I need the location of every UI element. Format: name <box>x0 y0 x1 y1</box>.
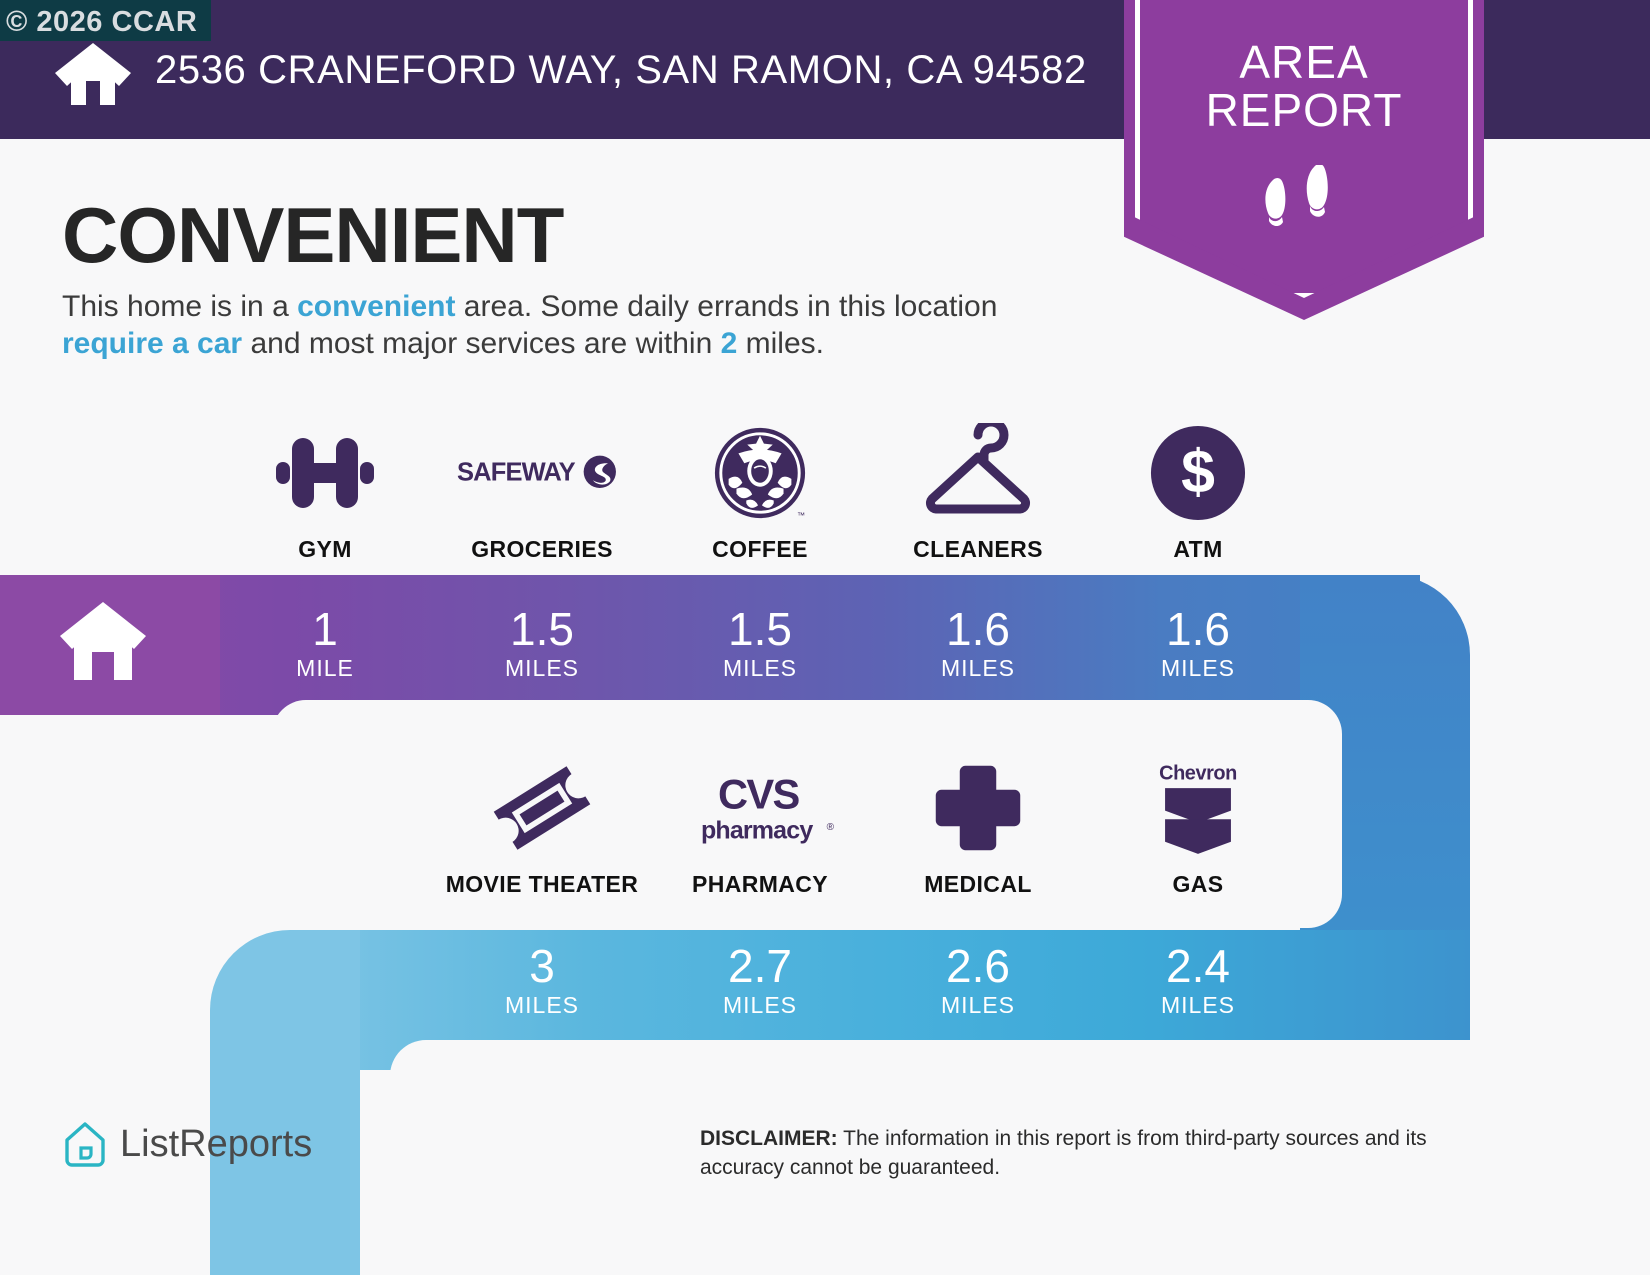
subtitle-highlight-3: 2 <box>721 327 738 360</box>
distance-unit: MILES <box>873 655 1083 682</box>
property-address: 2536 CRANEFORD WAY, SAN RAMON, CA 94582 <box>155 48 1087 93</box>
svg-text:SAFEWAY: SAFEWAY <box>457 458 576 486</box>
svg-text:™: ™ <box>797 511 805 520</box>
distance-cleaners: 1.6 MILES <box>873 605 1083 682</box>
distance-unit: MILES <box>1093 992 1303 1019</box>
distance-value: 3 <box>437 942 647 990</box>
listreports-house-icon <box>62 1120 108 1168</box>
distance-unit: MILES <box>1093 655 1303 682</box>
medical-cross-icon <box>873 755 1083 861</box>
distance-gym: 1 MILE <box>220 605 430 682</box>
subtitle-part-4: miles. <box>737 327 824 360</box>
svg-text:Chevron: Chevron <box>1159 762 1237 784</box>
home-icon <box>55 43 131 105</box>
distance-value: 2.6 <box>873 942 1083 990</box>
row2-icons: MOVIE THEATER CVS pharmacy ® PHARMACY ME… <box>0 755 1650 905</box>
subtitle-part-1: This home is in a <box>62 290 297 323</box>
distance-pharmacy: 2.7 MILES <box>655 942 865 1019</box>
category-label: PHARMACY <box>655 871 865 898</box>
dollar-circle-icon: $ <box>1093 420 1303 526</box>
disclaimer: DISCLAIMER: The information in this repo… <box>700 1124 1510 1182</box>
distance-unit: MILES <box>655 655 865 682</box>
subtitle-part-2: area. Some daily errands in this locatio… <box>455 290 997 323</box>
category-label: GAS <box>1093 871 1303 898</box>
home-marker-icon <box>60 600 146 680</box>
category-label: GROCERIES <box>437 536 647 563</box>
distance-value: 1.6 <box>873 605 1083 653</box>
svg-text:pharmacy: pharmacy <box>701 816 813 844</box>
footprints-icon <box>1262 165 1346 235</box>
category-label: COFFEE <box>655 536 865 563</box>
badge-line-1: AREA <box>1124 38 1484 86</box>
distance-value: 1.5 <box>437 605 647 653</box>
cvs-pharmacy-logo: CVS pharmacy ® <box>655 755 865 861</box>
category-medical: MEDICAL <box>873 755 1083 898</box>
dumbbell-icon <box>220 420 430 526</box>
safeway-logo: SAFEWAY <box>437 420 647 526</box>
disclaimer-label: DISCLAIMER: <box>700 1127 838 1150</box>
listreports-label: ListReports <box>120 1123 312 1166</box>
distance-value: 1 <box>220 605 430 653</box>
category-gas: Chevron GAS <box>1093 755 1303 898</box>
area-report-badge-label: AREA REPORT <box>1124 38 1484 134</box>
svg-text:CVS: CVS <box>718 770 800 817</box>
listreports-logo[interactable]: ListReports <box>62 1120 312 1168</box>
hanger-icon <box>873 420 1083 526</box>
page-title: CONVENIENT <box>62 190 563 281</box>
ticket-icon <box>437 755 647 861</box>
distance-value: 2.4 <box>1093 942 1303 990</box>
distance-groceries: 1.5 MILES <box>437 605 647 682</box>
category-label: MOVIE THEATER <box>437 871 647 898</box>
distance-gas: 2.4 MILES <box>1093 942 1303 1019</box>
category-label: GYM <box>220 536 430 563</box>
distance-unit: MILES <box>655 992 865 1019</box>
category-label: ATM <box>1093 536 1303 563</box>
distance-unit: MILE <box>220 655 430 682</box>
svg-text:®: ® <box>827 822 835 833</box>
page-subtitle: This home is in a convenient area. Some … <box>62 288 1062 362</box>
distance-medical: 2.6 MILES <box>873 942 1083 1019</box>
category-coffee: ™ COFFEE <box>655 420 865 563</box>
category-gym: GYM <box>220 420 430 563</box>
category-atm: $ ATM <box>1093 420 1303 563</box>
area-report-page: © 2026 CCAR 2536 CRANEFORD WAY, SAN RAMO… <box>0 0 1650 1275</box>
distance-coffee: 1.5 MILES <box>655 605 865 682</box>
distance-value: 1.6 <box>1093 605 1303 653</box>
badge-line-2: REPORT <box>1124 86 1484 134</box>
category-pharmacy: CVS pharmacy ® PHARMACY <box>655 755 865 898</box>
row1-icons: GYM SAFEWAY GROCERIES <box>0 420 1650 570</box>
starbucks-logo: ™ <box>655 420 865 526</box>
svg-text:$: $ <box>1181 438 1215 506</box>
category-movie-theater: MOVIE THEATER <box>437 755 647 898</box>
copyright-badge: © 2026 CCAR <box>0 0 211 41</box>
subtitle-part-3: and most major services are within <box>242 327 721 360</box>
distance-value: 2.7 <box>655 942 865 990</box>
category-cleaners: CLEANERS <box>873 420 1083 563</box>
distance-unit: MILES <box>437 655 647 682</box>
distance-movie-theater: 3 MILES <box>437 942 647 1019</box>
distance-atm: 1.6 MILES <box>1093 605 1303 682</box>
subtitle-highlight-1: convenient <box>297 290 455 323</box>
distance-unit: MILES <box>437 992 647 1019</box>
category-label: MEDICAL <box>873 871 1083 898</box>
category-label: CLEANERS <box>873 536 1083 563</box>
subtitle-highlight-2: require a car <box>62 327 242 360</box>
category-groceries: SAFEWAY GROCERIES <box>437 420 647 563</box>
chevron-logo: Chevron <box>1093 755 1303 861</box>
distance-value: 1.5 <box>655 605 865 653</box>
distance-unit: MILES <box>873 992 1083 1019</box>
